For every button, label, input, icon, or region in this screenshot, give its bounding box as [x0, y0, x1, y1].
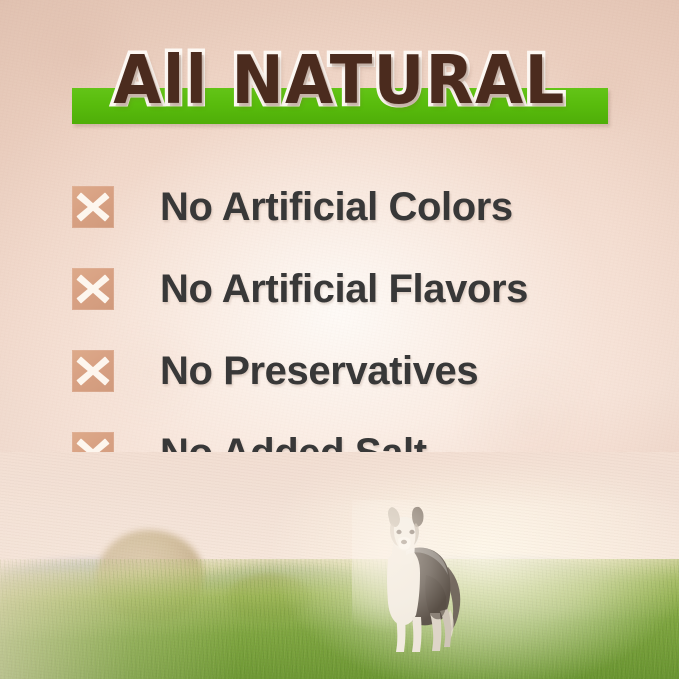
landscape-photo [0, 452, 679, 679]
claim-label: No Artificial Colors [160, 186, 513, 228]
x-mark-icon [72, 186, 114, 228]
x-mark-icon [72, 350, 114, 392]
headline-banner: All NATURAL [0, 0, 679, 150]
list-item: No Artificial Flavors [0, 248, 679, 330]
claim-label: No Artificial Flavors [160, 268, 528, 310]
list-item: No Preservatives [0, 330, 679, 412]
x-mark-icon [72, 268, 114, 310]
claim-label: No Preservatives [160, 350, 478, 392]
claims-list: No Artificial Colors No Artificial Flavo… [0, 166, 679, 494]
dog-illustration [362, 505, 468, 655]
list-item: No Artificial Colors [0, 166, 679, 248]
photo-grain [0, 452, 679, 679]
page-title: All NATURAL [24, 46, 655, 114]
product-feature-poster: All NATURAL No Artificial Colors No Arti… [0, 0, 679, 679]
